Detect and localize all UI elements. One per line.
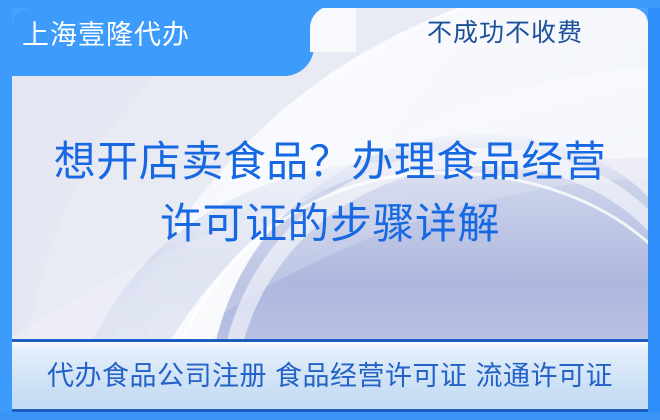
tagline: 不成功不收费 — [380, 16, 630, 50]
headline-line-2: 许可证的步骤详解 — [0, 193, 660, 255]
frame-edge-bottom — [0, 412, 660, 420]
headline: 想开店卖食品？办理食品经营 许可证的步骤详解 — [0, 131, 660, 255]
footer-keywords: 代办食品公司注册 食品经营许可证 流通许可证 — [47, 359, 613, 393]
frame-edge-top — [0, 0, 660, 8]
footer-sheen — [12, 342, 648, 348]
headline-line-1: 想开店卖食品？办理食品经营 — [0, 131, 660, 193]
brand-name: 上海壹隆代办 — [22, 18, 190, 52]
footer-bar: 代办食品公司注册 食品经营许可证 流通许可证 — [12, 342, 648, 409]
poster-canvas: 上海壹隆代办 不成功不收费 想开店卖食品？办理食品经营 许可证的步骤详解 代办食… — [0, 0, 660, 420]
card-notch-shoulder — [310, 8, 356, 52]
footer-divider-bottom — [12, 409, 648, 412]
